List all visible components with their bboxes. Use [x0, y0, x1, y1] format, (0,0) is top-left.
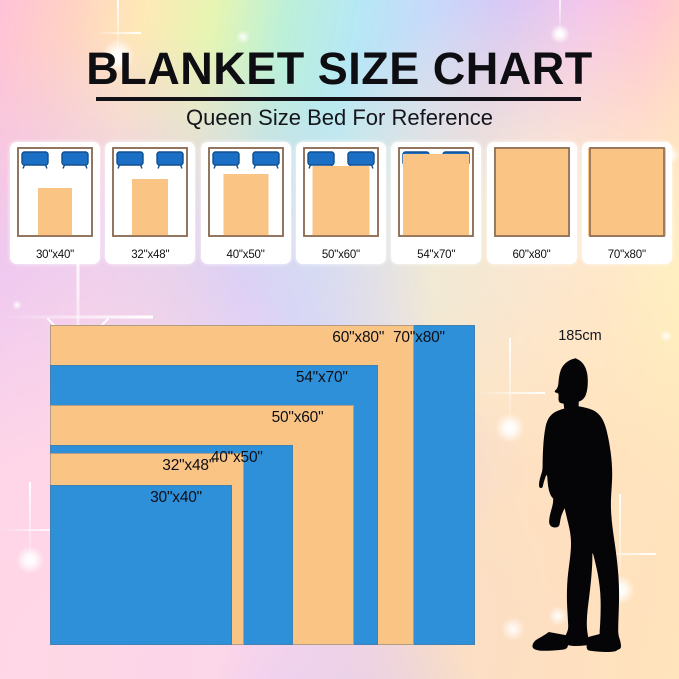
size-comparison-chart: 70"x80"60"x80"54"x70"50"x60"40"x50"32"x4…	[0, 300, 500, 660]
size-rect-label: 70"x80"	[393, 329, 445, 347]
size-rect-label: 54"x70"	[296, 369, 348, 387]
bed-reference-card[interactable]: 70"x80"	[582, 142, 672, 264]
size-rect-label: 50"x60"	[272, 409, 324, 427]
bed-card-label: 54"x70"	[391, 249, 481, 261]
bed-card-label: 50"x60"	[296, 249, 386, 261]
bed-card-label: 60"x80"	[487, 249, 577, 261]
size-rect-label: 40"x50"	[211, 449, 263, 467]
standing-man-silhouette-icon	[520, 356, 640, 652]
blanket-overlay	[223, 174, 268, 236]
blanket-size-chart-infographic: BLANKET SIZE CHART Queen Size Bed For Re…	[0, 0, 679, 679]
bed-reference-card[interactable]: 60"x80"	[487, 142, 577, 264]
bed-reference-card[interactable]: 30"x40"	[10, 142, 100, 264]
title-underline	[96, 97, 581, 101]
size-rect[interactable]	[50, 485, 232, 645]
person-height-label: 185cm	[520, 328, 640, 344]
bed-reference-card[interactable]: 32"x48"	[105, 142, 195, 264]
bokeh-dot-1	[236, 30, 250, 44]
blanket-overlay	[403, 154, 469, 236]
bed-card-label: 32"x48"	[105, 249, 195, 261]
bed-reference-card[interactable]: 54"x70"	[391, 142, 481, 264]
bed-reference-card[interactable]: 40"x50"	[201, 142, 291, 264]
bed-reference-card[interactable]: 50"x60"	[296, 142, 386, 264]
bed-card-label: 30"x40"	[10, 249, 100, 261]
bed-reference-row: 30"x40"32"x48"40"x50"50"x60"54"x70"60"x8…	[10, 142, 672, 264]
blanket-overlay	[312, 166, 369, 236]
page-subtitle: Queen Size Bed For Reference	[0, 104, 679, 133]
blanket-overlay	[38, 188, 72, 236]
bed-card-label: 70"x80"	[582, 249, 672, 261]
blanket-overlay	[588, 148, 666, 236]
blanket-overlay	[495, 148, 569, 236]
size-rect-label: 32"x48"	[162, 457, 214, 475]
bokeh-dot-8	[660, 330, 672, 342]
size-rect-label: 30"x40"	[150, 489, 202, 507]
page-title: BLANKET SIZE CHART	[0, 46, 679, 91]
bed-card-label: 40"x50"	[201, 249, 291, 261]
size-rect-label: 60"x80"	[332, 329, 384, 347]
blanket-overlay	[132, 179, 168, 236]
